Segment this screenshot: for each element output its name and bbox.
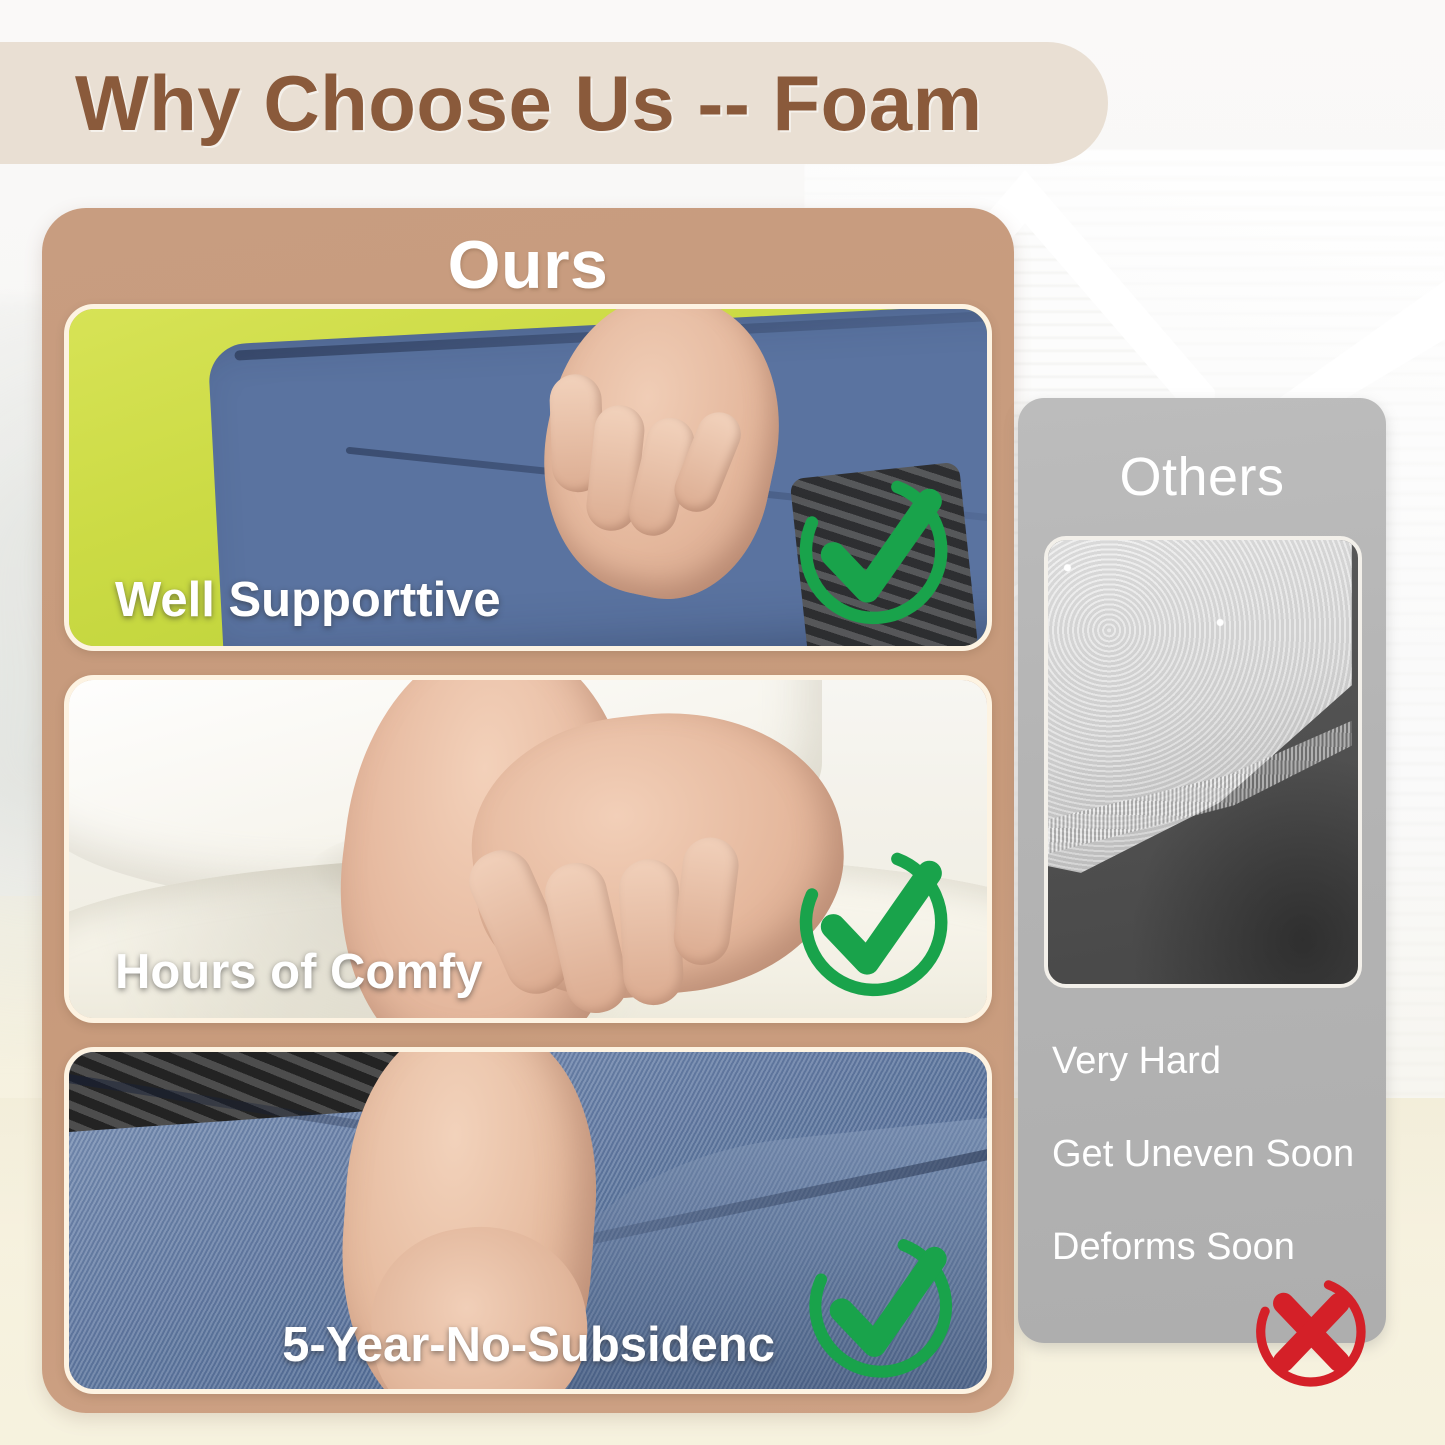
list-item: Very Hard <box>1052 1040 1372 1083</box>
finger <box>671 834 742 968</box>
page-title: Why Choose Us -- Foam <box>75 58 983 149</box>
ours-panel: Ours Well Supporttive <box>42 208 1014 1413</box>
green-check-icon <box>797 1221 969 1393</box>
others-drawback-list: Very Hard Get Uneven Soon Deforms Soon <box>1052 1040 1372 1319</box>
infographic-canvas: Why Choose Us -- Foam Ours <box>0 0 1445 1445</box>
feature-card: Well Supporttive <box>64 304 992 651</box>
feature-card: Hours of Comfy <box>64 675 992 1022</box>
ours-card-list: Well Supporttive <box>64 304 992 1394</box>
others-panel: Others Very Hard Get Uneven Soon Deforms… <box>1018 398 1386 1343</box>
feature-card: 5-Year-No-Subsidenc <box>64 1047 992 1394</box>
header-banner: Why Choose Us -- Foam <box>0 42 1108 164</box>
feature-label: Hours of Comfy <box>115 944 483 1000</box>
others-foam-image <box>1044 536 1362 988</box>
list-item: Get Uneven Soon <box>1052 1133 1372 1176</box>
green-check-icon <box>787 834 965 1012</box>
others-title: Others <box>1018 446 1386 508</box>
green-check-icon <box>787 462 965 640</box>
list-item: Deforms Soon <box>1052 1226 1372 1269</box>
feature-label: Well Supporttive <box>115 572 501 628</box>
feature-label: 5-Year-No-Subsidenc <box>282 1317 775 1373</box>
ours-title: Ours <box>42 226 1014 304</box>
